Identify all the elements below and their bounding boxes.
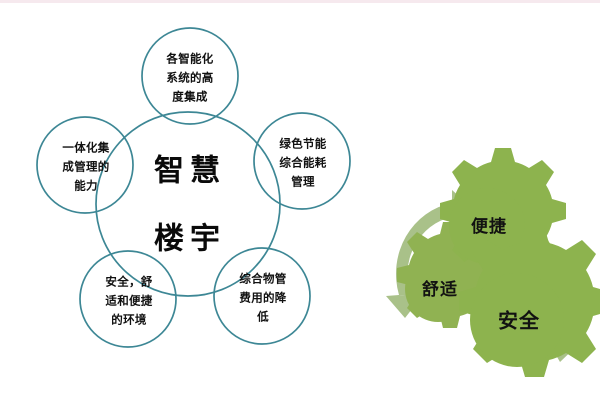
center-circle bbox=[96, 112, 280, 296]
satellite-label-environment: 安全，舒 适和便捷 的环境 bbox=[105, 275, 152, 327]
gear-convenient-label: 便捷 bbox=[471, 216, 507, 237]
satellite-label-unified-management-line1: 一体化集 bbox=[62, 141, 109, 155]
center-label-line2: 楼宇 bbox=[154, 222, 226, 257]
satellite-label-integration: 各智能化 系统的高 度集成 bbox=[165, 52, 213, 104]
satellite-label-environment-line1: 安全，舒 bbox=[105, 275, 152, 289]
satellite-label-integration-line1: 各智能化 bbox=[165, 52, 213, 66]
satellite-label-environment-line3: 的环境 bbox=[111, 313, 147, 327]
satellite-label-property-cost-line1: 综合物管 bbox=[239, 272, 286, 286]
satellite-label-integration-line3: 度集成 bbox=[172, 90, 208, 104]
satellite-label-unified-management: 一体化集 成管理的 能力 bbox=[62, 141, 109, 193]
satellite-label-integration-line2: 系统的高 bbox=[166, 71, 213, 85]
satellite-label-green-energy-line3: 管理 bbox=[291, 175, 315, 189]
gear-safe[interactable]: 安全 bbox=[459, 226, 600, 377]
figure-canvas: 智慧 楼宇 各智能化 系统的高 度集成 绿色节能 综合能耗 管理 综合物管 费用… bbox=[0, 0, 600, 400]
gear-diagram: 舒适 便捷 安全 bbox=[386, 148, 600, 377]
satellite-label-property-cost: 综合物管 费用的降 低 bbox=[239, 272, 286, 324]
satellite-label-unified-management-line2: 成管理的 bbox=[62, 160, 109, 174]
satellite-label-unified-management-line3: 能力 bbox=[74, 179, 98, 193]
satellite-label-environment-line2: 适和便捷 bbox=[105, 294, 152, 308]
gear-comfortable-label: 舒适 bbox=[422, 279, 458, 300]
satellite-label-green-energy-line1: 绿色节能 bbox=[279, 137, 326, 151]
venn-diagram: 智慧 楼宇 各智能化 系统的高 度集成 绿色节能 综合能耗 管理 综合物管 费用… bbox=[37, 28, 350, 347]
satellite-label-property-cost-line2: 费用的降 bbox=[239, 291, 286, 305]
gear-safe-label: 安全 bbox=[498, 309, 540, 333]
diagram-svg: 智慧 楼宇 各智能化 系统的高 度集成 绿色节能 综合能耗 管理 综合物管 费用… bbox=[0, 0, 600, 400]
satellite-label-green-energy: 绿色节能 综合能耗 管理 bbox=[279, 137, 326, 189]
center-label-line1: 智慧 bbox=[154, 154, 226, 189]
satellite-label-green-energy-line2: 综合能耗 bbox=[279, 156, 326, 170]
satellite-label-property-cost-line3: 低 bbox=[256, 310, 269, 324]
